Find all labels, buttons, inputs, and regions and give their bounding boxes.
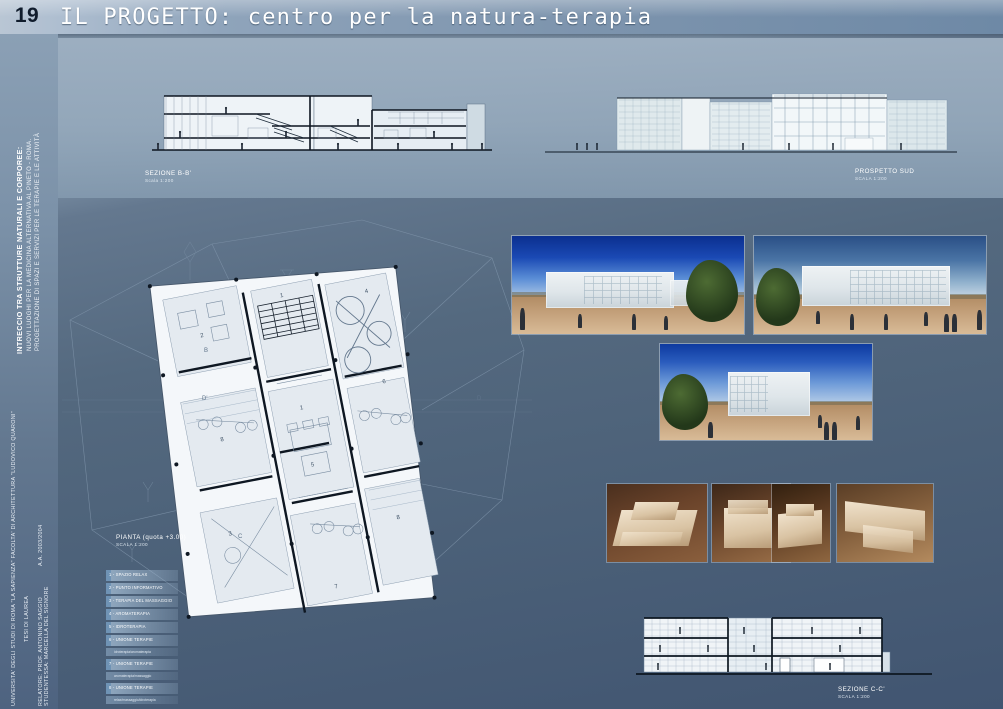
facade-glazing <box>584 276 662 304</box>
caption-scale: SCALA 1:200 <box>116 542 186 547</box>
legend-label: 2 - PUNTO INFORMATIVO <box>109 585 163 590</box>
person-figure <box>824 422 829 440</box>
legend-item: 4 - AROMATERAPIA <box>106 609 178 620</box>
caption-section-cc: SEZIONE C-C' SCALA 1:200 <box>838 686 885 699</box>
person-figure <box>944 314 949 332</box>
drawing-site-plan: 214 816 358 7 BD D'C <box>62 200 532 620</box>
model-mass <box>631 502 679 520</box>
legend-item: 2 - PUNTO INFORMATIVO <box>106 583 178 594</box>
legend-item: 3 - TERAPIA DEL MASSAGGIO <box>106 596 178 607</box>
caption-scale: SCALA 1:200 <box>838 694 885 699</box>
student-name: STUDENTESSA: MARCELLA DEL SIGNORE <box>44 586 50 706</box>
person-figure <box>816 311 820 324</box>
legend-label: 3 - TERAPIA DEL MASSAGGIO <box>109 598 172 603</box>
rendering-vista-esterna-ovest <box>512 236 744 334</box>
person-figure <box>977 310 982 330</box>
legend-label: 5 - IDROTERAPIA <box>109 624 146 629</box>
caption-section-bb: SEZIONE B-B' Scala 1:200 <box>145 170 191 183</box>
model-photo-plastico-vista-laterale <box>772 484 830 562</box>
thesis-title-line-1: INTRECCIO TRA STRUTTURE NATURALI E CORPO… <box>15 147 24 354</box>
svg-text:D: D <box>477 396 482 402</box>
presentation-board: 19 IL PROGETTO: centro per la natura-ter… <box>0 0 1003 709</box>
person-figure <box>884 314 888 330</box>
svg-text:B: B <box>204 348 208 354</box>
person-figure <box>578 314 582 328</box>
caption-scale: Scala 1:200 <box>145 178 191 183</box>
person-figure <box>520 308 525 330</box>
legend-label: 7 - UNIONE TERAPIE <box>109 661 153 666</box>
person-figure <box>818 415 822 428</box>
model-mass <box>619 532 682 546</box>
person-figure <box>924 312 928 326</box>
legend-item: 6 - UNIONE TERAPIE <box>106 635 178 646</box>
legend-sub-label: aromaterapia/massaggio <box>114 674 151 678</box>
page-number: 19 <box>12 3 42 29</box>
model-photo-plastico-dettaglio <box>837 484 933 562</box>
rendering-vista-esterna-nord <box>754 236 986 334</box>
legend-label: 4 - AROMATERAPIA <box>109 611 150 616</box>
drawing-elevation-south <box>545 88 960 160</box>
person-figure <box>664 316 668 330</box>
person-figure <box>708 422 713 438</box>
legend-label: 1 - SPAZIO RELAX <box>109 572 147 577</box>
model-mass <box>728 500 768 514</box>
person-figure <box>856 416 860 430</box>
page-title: IL PROGETTO: centro per la natura-terapi… <box>60 4 652 30</box>
legend-label: 8 - UNIONE TERAPIE <box>109 685 153 690</box>
plan-legend: 1 - SPAZIO RELAX 2 - PUNTO INFORMATIVO 3… <box>106 570 178 707</box>
thesis-title-line-2: NUOVI LUOGHI PER LA MEDICINA ALTERNATIVA… <box>27 139 33 351</box>
caption-title: PROSPETTO SUD <box>855 168 914 175</box>
legend-subtitle: idroterapia/aromaterapia <box>106 648 178 656</box>
facade-glazing <box>850 270 946 304</box>
caption-title: SEZIONE B-B' <box>145 170 191 177</box>
caption-plan: PIANTA (quota +3.00) SCALA 1:200 <box>116 534 186 547</box>
legend-subtitle: aromaterapia/massaggio <box>106 672 178 680</box>
rendering-vista-angolo-sud-est <box>660 344 872 440</box>
legend-item: 5 - IDROTERAPIA <box>106 622 178 633</box>
person-figure <box>850 314 854 330</box>
legend-subtitle: relax/massaggio/idroterapia <box>106 696 178 704</box>
caption-title: SEZIONE C-C' <box>838 686 885 693</box>
legend-sub-label: relax/massaggio/idroterapia <box>114 698 156 702</box>
academic-year: A.A. 2003/2004 <box>38 525 44 566</box>
caption-elevation-south: PROSPETTO SUD SCALA 1:200 <box>855 168 914 181</box>
legend-label: 6 - UNIONE TERAPIE <box>109 637 153 642</box>
university-name: UNIVERSITA' DEGLI STUDI DI ROMA "LA SAPI… <box>11 411 17 706</box>
facade-glazing <box>730 376 768 412</box>
drawing-section-bb <box>152 88 492 160</box>
person-figure <box>952 314 957 332</box>
drawing-section-cc <box>636 612 932 678</box>
model-photo-plastico-vista-alto <box>607 484 707 562</box>
svg-text:D': D' <box>202 396 207 402</box>
person-figure <box>632 314 636 330</box>
caption-title: PIANTA (quota +3.00) <box>116 534 186 541</box>
legend-sub-label: idroterapia/aromaterapia <box>114 650 151 654</box>
legend-item: 8 - UNIONE TERAPIE <box>106 683 178 694</box>
legend-item: 1 - SPAZIO RELAX <box>106 570 178 581</box>
model-mass <box>786 504 814 516</box>
svg-text:C: C <box>238 534 243 540</box>
legend-item: 7 - UNIONE TERAPIE <box>106 659 178 670</box>
thesis-title-line-3: PROGETTAZIONE DI SPAZI E SERVIZI PER LE … <box>35 133 41 351</box>
degree-label: TESI DI LAUREA <box>24 596 30 642</box>
model-mass <box>724 508 776 548</box>
caption-scale: SCALA 1:200 <box>855 176 914 181</box>
person-figure <box>832 422 837 440</box>
